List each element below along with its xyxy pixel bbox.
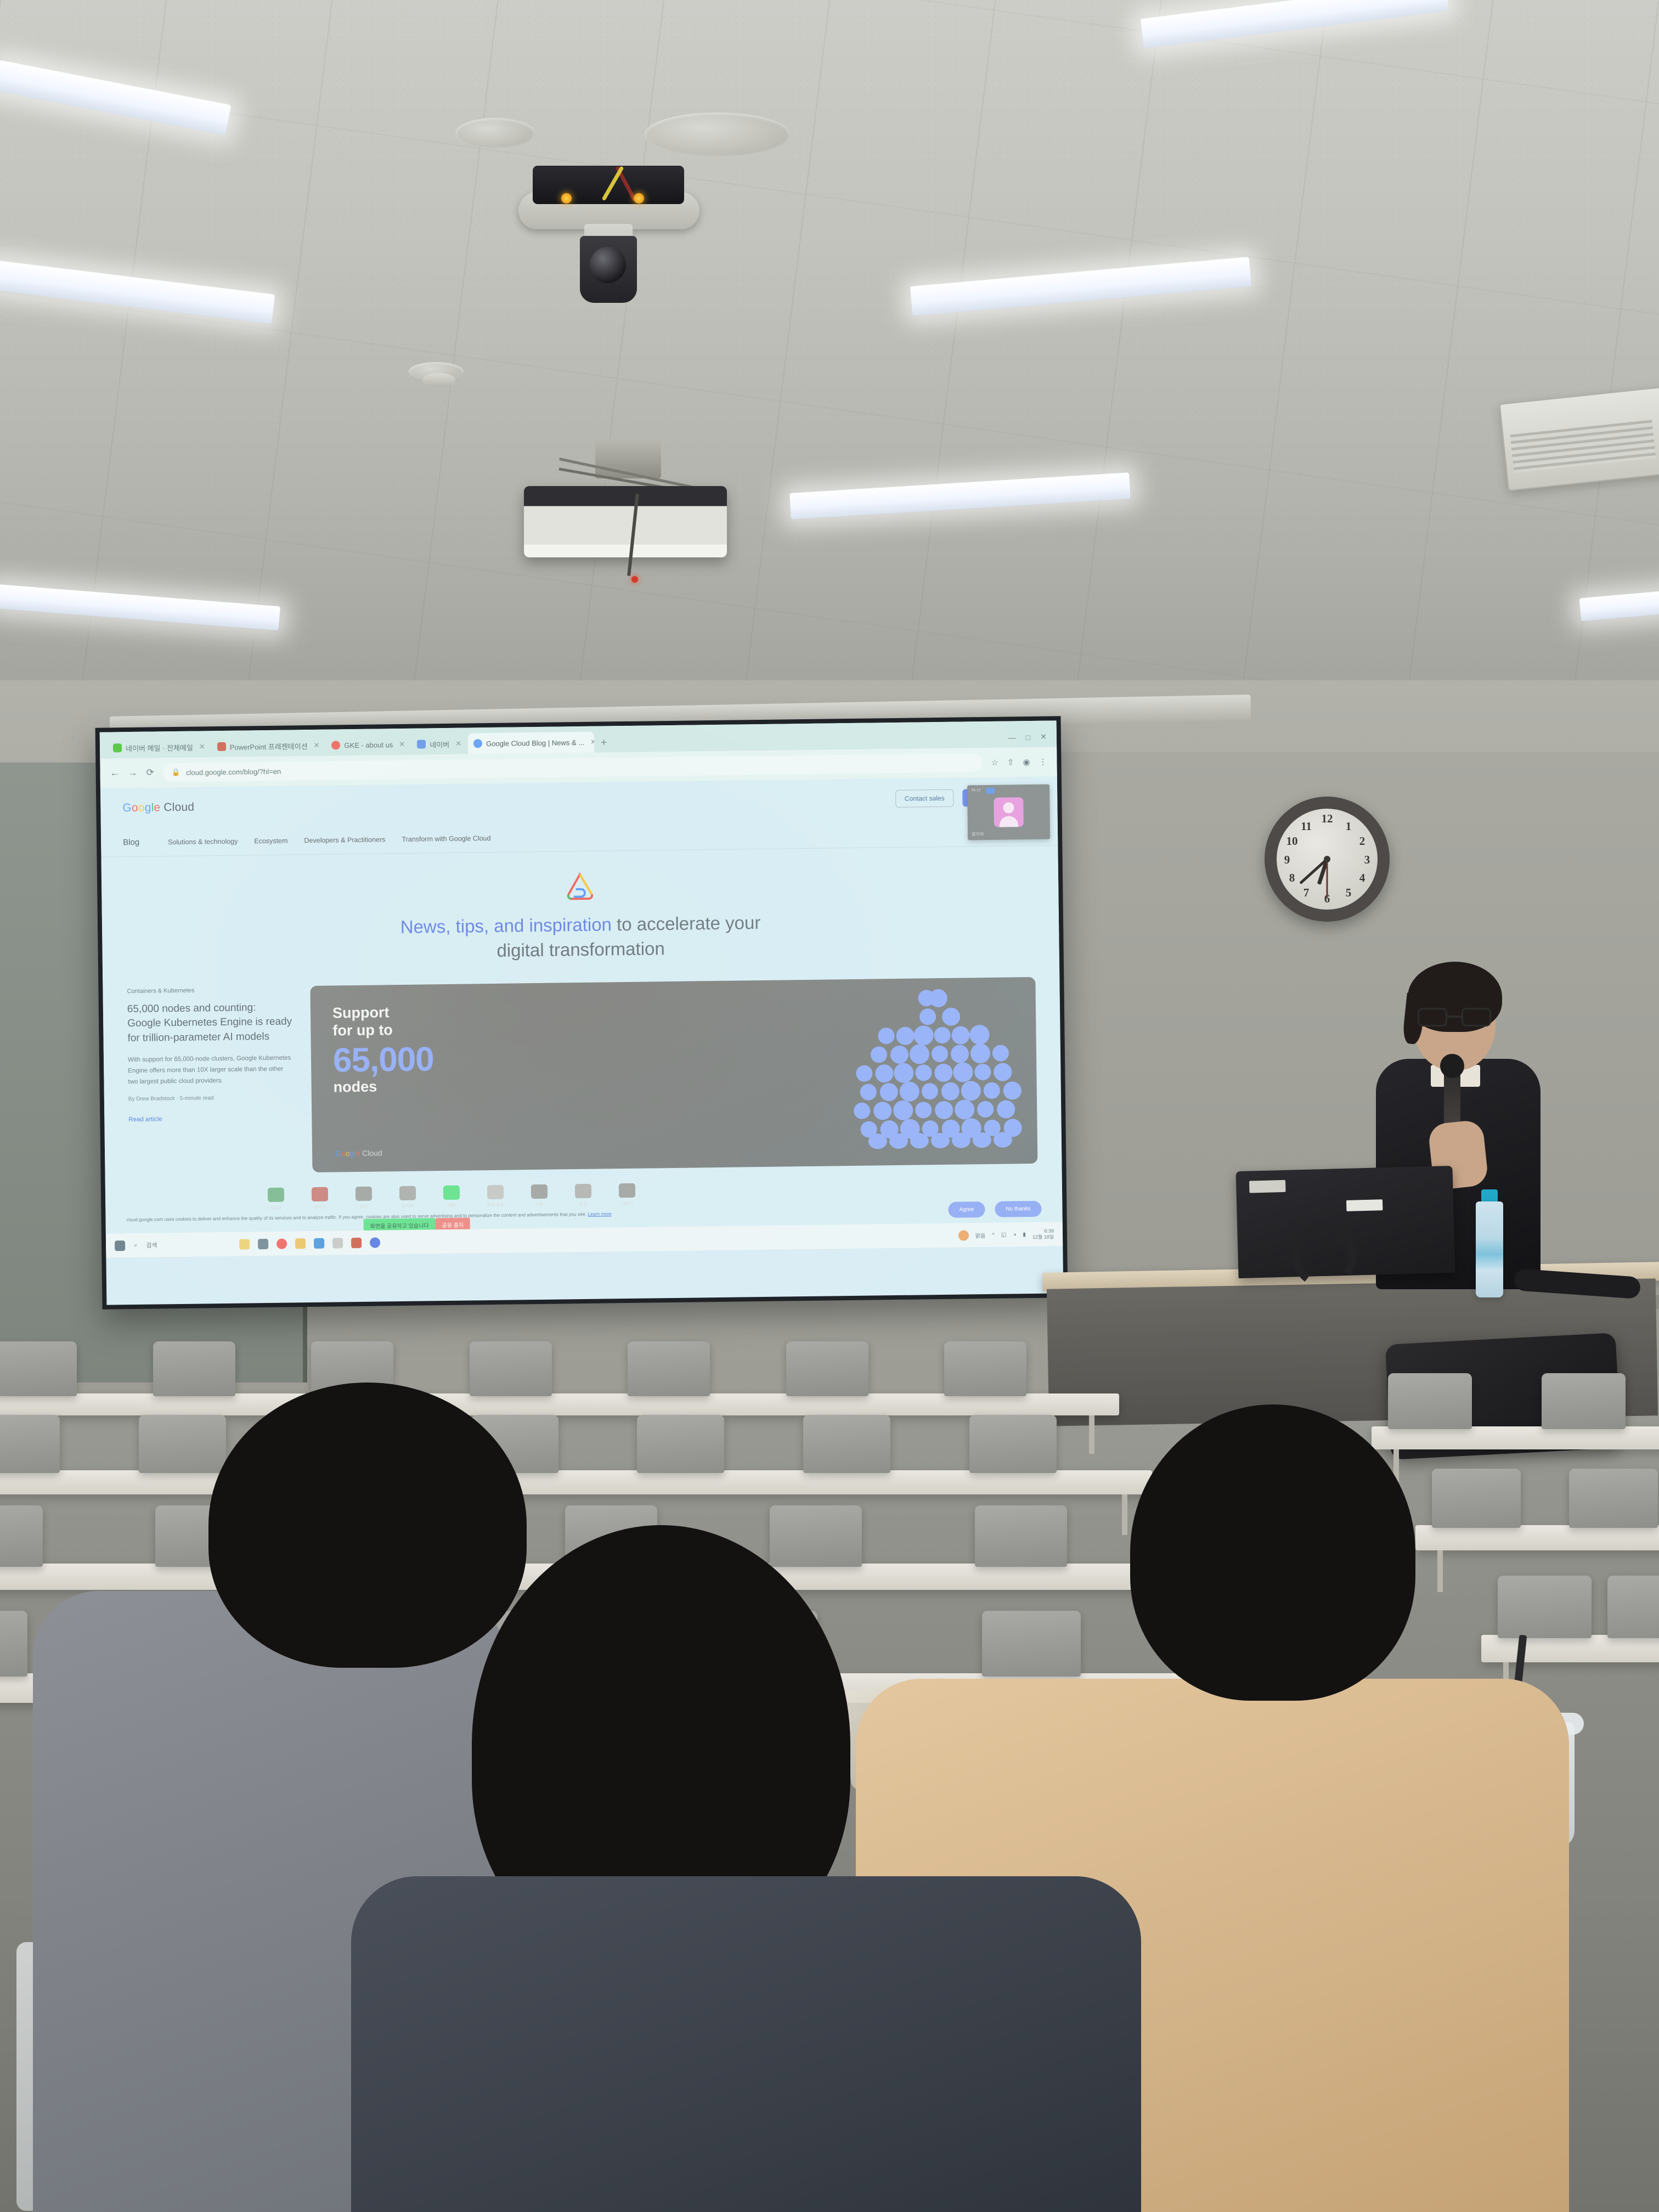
projection-screen: 네이버 메일 · 전체메일 ✕ PowerPoint 프레젠테이션 ✕ GKE … <box>95 716 1068 1309</box>
classroom-desk <box>0 1470 1152 1494</box>
copilot-icon[interactable] <box>239 1239 250 1249</box>
desk-leg <box>1089 1415 1094 1454</box>
glasses-icon <box>1418 1008 1491 1026</box>
clock-numeral: 9 <box>1280 853 1294 867</box>
clock-numeral: 4 <box>1355 871 1369 885</box>
toolbar-reactions[interactable]: 반응 <box>571 1184 596 1207</box>
task-view-icon[interactable] <box>258 1239 268 1249</box>
glasses-bridge <box>1447 1015 1462 1018</box>
clock-numeral: 2 <box>1355 834 1369 848</box>
chat-icon <box>443 1186 460 1200</box>
cluster-node <box>994 1063 1012 1081</box>
classroom-chair <box>969 1415 1057 1473</box>
cluster-node <box>910 1044 929 1064</box>
toolbar-participants[interactable]: 참가자 <box>395 1186 421 1210</box>
cluster-node <box>856 1065 872 1082</box>
clock-numeral: 5 <box>1341 886 1356 900</box>
lock-icon: 🔒 <box>172 768 180 777</box>
edge-icon[interactable] <box>314 1238 324 1248</box>
tab-favicon <box>113 743 122 752</box>
classroom-chair <box>1569 1469 1658 1528</box>
cluster-node <box>973 1132 991 1148</box>
clock-numeral: 12 <box>1320 812 1334 826</box>
camera-led-indicator <box>561 193 572 204</box>
glasses-lens-left <box>1418 1008 1447 1026</box>
clock-numeral: 10 <box>1285 834 1299 848</box>
tab-favicon <box>331 741 340 749</box>
toolbar-label: 오디오 <box>263 1205 289 1211</box>
tile-time-label: 34:12 <box>971 788 981 792</box>
browser-tab-active[interactable]: Google Cloud Blog | News & ... ✕ <box>468 732 594 754</box>
minimize-button[interactable]: — <box>1008 733 1016 742</box>
tab-favicon <box>473 739 482 748</box>
new-tab-button[interactable]: + <box>595 737 612 752</box>
tab-title: GKE - about us <box>344 741 393 749</box>
article-category[interactable]: Containers & Kubernetes <box>127 986 291 995</box>
taskbar-clock[interactable]: 6:38 12월 18일 <box>1032 1228 1054 1240</box>
clock-face: 12 1 2 3 4 5 6 7 8 9 10 11 <box>1277 809 1378 910</box>
toolbar-label: 비디오 <box>307 1204 332 1211</box>
classroom-chair <box>1498 1576 1592 1638</box>
toolbar-security[interactable]: 보안 <box>351 1187 377 1210</box>
ceiling <box>0 0 1659 713</box>
zoom-icon[interactable] <box>370 1237 380 1248</box>
classroom-chair <box>0 1505 43 1567</box>
tab-title: 네이버 메일 · 전체메일 <box>126 742 193 753</box>
toolbar-audio[interactable]: 오디오 <box>263 1188 289 1211</box>
read-article-link[interactable]: Read article <box>128 1115 293 1124</box>
clock-numeral: 3 <box>1360 853 1374 867</box>
cluster-node <box>955 1099 974 1119</box>
nav-item-solutions[interactable]: Solutions & technology <box>168 837 238 846</box>
cluster-node <box>854 1103 870 1119</box>
cluster-node <box>951 1045 969 1063</box>
reload-icon[interactable]: ⟳ <box>146 767 154 778</box>
bookmark-icon[interactable]: ☆ <box>991 758 998 768</box>
hero-headline: News, tips, and inspiration to accelerat… <box>102 907 1059 967</box>
google-cloud-logo-icon <box>564 871 596 904</box>
classroom-chair <box>1607 1576 1659 1638</box>
more-icon <box>619 1183 635 1198</box>
cluster-node <box>860 1084 877 1101</box>
camera-led-indicator <box>634 193 644 204</box>
hero-card: Support for up to 65,000 nodes Google Cl… <box>310 977 1037 1172</box>
cluster-node <box>934 1063 952 1081</box>
cookie-agree-button[interactable]: Agree <box>949 1201 985 1218</box>
tab-close-icon[interactable]: ✕ <box>313 741 319 750</box>
classroom-chair <box>803 1415 890 1473</box>
cluster-node <box>941 1007 960 1025</box>
clock-numeral: 7 <box>1299 886 1313 900</box>
classroom-chair <box>1542 1373 1626 1429</box>
tab-title: PowerPoint 프레젠테이션 <box>230 741 308 752</box>
toolbar-label: 채팅 <box>439 1203 464 1209</box>
cluster-node <box>896 1026 914 1045</box>
classroom-chair <box>470 1341 552 1396</box>
classroom-chair <box>637 1415 724 1473</box>
mic-icon <box>986 788 995 794</box>
toolbar-label: 더보기 <box>614 1200 640 1207</box>
toolbar-record[interactable]: 기록 <box>527 1184 552 1208</box>
classroom-chair <box>1388 1373 1472 1429</box>
cluster-node <box>890 1045 908 1063</box>
cluster-node <box>952 1026 970 1044</box>
meeting-self-video-tile[interactable]: 34:12 참가자 <box>967 785 1050 840</box>
toolbar-label: 화면 공유 <box>483 1202 508 1209</box>
headline-rest: to accelerate your <box>612 912 761 934</box>
classroom-chair <box>982 1611 1081 1677</box>
browser-tab[interactable]: PowerPoint 프레젠테이션 ✕ <box>212 735 325 758</box>
cluster-node <box>997 1100 1015 1118</box>
url-text: cloud.google.com/blog/?hl=en <box>186 767 281 776</box>
classroom-chair <box>628 1341 710 1396</box>
card-cloud-text: Cloud <box>362 1149 382 1158</box>
classroom-desk <box>1481 1635 1659 1662</box>
cluster-node <box>915 1064 932 1081</box>
card-google-cloud-wordmark: Google Cloud <box>335 1149 382 1158</box>
nav-item-transform[interactable]: Transform with Google Cloud <box>402 834 490 843</box>
headline-line2: digital transformation <box>496 938 665 961</box>
audience-member-head <box>1130 1404 1415 1701</box>
chrome-icon[interactable] <box>276 1238 287 1249</box>
cookie-decline-button[interactable]: No thanks <box>995 1201 1041 1217</box>
ceiling-projector <box>524 439 727 576</box>
toolbar-more[interactable]: 더보기 <box>614 1183 640 1207</box>
windows-start-icon[interactable] <box>115 1240 125 1251</box>
nav-item-developers[interactable]: Developers & Practitioners <box>304 836 385 844</box>
tab-close-icon[interactable]: ✕ <box>199 742 205 751</box>
projector-status-led <box>631 576 638 583</box>
classroom-chair <box>0 1611 27 1677</box>
cluster-node <box>879 1083 898 1101</box>
classroom-chair <box>139 1415 226 1473</box>
ceiling-ptz-camera <box>518 159 699 302</box>
toolbar-video[interactable]: 비디오 <box>307 1187 333 1211</box>
classroom-chair <box>0 1341 77 1396</box>
cluster-node <box>868 1133 887 1149</box>
cluster-node <box>910 1133 929 1148</box>
reactions-icon <box>575 1184 591 1198</box>
tab-close-icon[interactable]: ✕ <box>590 738 594 747</box>
cluster-node <box>878 1028 894 1044</box>
tab-title: 네이버 <box>430 738 449 749</box>
toolbar-chat[interactable]: 채팅 <box>439 1186 465 1209</box>
ceiling-speaker <box>455 118 535 148</box>
cluster-node <box>935 1101 953 1119</box>
window-controls: — □ ✕ <box>1008 732 1052 748</box>
battery-icon[interactable]: ▮ <box>1023 1232 1026 1238</box>
yellow-cable <box>601 166 624 201</box>
cluster-node <box>953 1062 973 1082</box>
cluster-node <box>875 1064 893 1082</box>
clock-numeral: 1 <box>1341 820 1356 833</box>
cluster-node <box>941 1082 960 1100</box>
cookie-message: cloud.google.com uses cookies to deliver… <box>126 1211 588 1222</box>
cluster-node <box>893 1101 913 1120</box>
cluster-node <box>919 1008 936 1025</box>
hero-section: News, tips, and inspiration to accelerat… <box>101 845 1059 973</box>
cluster-node <box>931 1133 950 1148</box>
smoke-detector <box>422 373 455 387</box>
cluster-node <box>1003 1081 1021 1099</box>
network-icon[interactable]: ◱ <box>1001 1232 1007 1238</box>
browser-tab[interactable]: GKE - about us ✕ <box>326 734 410 756</box>
classroom-chair <box>786 1341 868 1396</box>
audience-member-body <box>351 1876 1141 2212</box>
clock-date: 12월 18일 <box>1032 1234 1054 1241</box>
close-window-button[interactable]: ✕ <box>1040 732 1047 742</box>
cluster-node <box>983 1082 1000 1099</box>
tab-close-icon[interactable]: ✕ <box>455 740 461 748</box>
featured-article: Containers & Kubernetes 65,000 nodes and… <box>127 986 294 1175</box>
cluster-node <box>932 1046 948 1062</box>
cluster-node <box>969 1025 989 1045</box>
cluster-node <box>992 1045 1009 1062</box>
camera-icon <box>312 1187 328 1201</box>
tab-favicon <box>217 742 226 751</box>
contact-sales-button[interactable]: Contact sales <box>895 789 954 808</box>
classroom-chair <box>153 1341 235 1396</box>
tab-close-icon[interactable]: ✕ <box>399 740 405 749</box>
clock-numeral: 11 <box>1299 820 1313 833</box>
meeting-toolbar: 오디오 비디오 보안 참가자 <box>263 1183 640 1211</box>
search-icon[interactable]: ⌕ <box>134 1242 137 1249</box>
avatar <box>994 797 1024 827</box>
classroom-desk <box>0 1393 1119 1415</box>
cluster-node <box>913 1025 933 1045</box>
cluster-node <box>961 1081 981 1101</box>
classroom-chair <box>975 1505 1067 1567</box>
clock-time: 6:38 <box>1032 1228 1054 1234</box>
weather-label[interactable]: 맑음 <box>975 1231 986 1239</box>
article-body: With support for 65,000-node clusters, G… <box>128 1052 293 1087</box>
projector-body <box>524 486 727 557</box>
volume-icon[interactable]: ◑ <box>1013 1232 1016 1238</box>
cookie-text: cloud.google.com uses cookies to deliver… <box>126 1206 938 1223</box>
audience-member-head <box>208 1383 527 1668</box>
back-icon[interactable]: ← <box>110 768 119 778</box>
tab-favicon <box>417 740 426 748</box>
share-screen-icon <box>487 1185 504 1199</box>
camera-lens-icon <box>590 247 626 283</box>
address-bar[interactable]: 🔒 cloud.google.com/blog/?hl=en <box>163 753 983 782</box>
classroom-chair <box>770 1505 862 1567</box>
file-explorer-icon[interactable] <box>295 1238 306 1249</box>
content-columns: Containers & Kubernetes 65,000 nodes and… <box>103 961 1062 1175</box>
cluster-node <box>873 1102 891 1120</box>
glasses-lens-right <box>1462 1008 1491 1026</box>
toolbar-label: 참가자 <box>395 1203 420 1210</box>
nav-brand-blog[interactable]: Blog <box>123 838 139 847</box>
share-icon[interactable]: ⇧ <box>1007 757 1014 767</box>
air-conditioner-unit <box>1499 387 1659 491</box>
webpage-google-cloud-blog: GoogleCloud Contact sales Get started fo… <box>100 776 1063 1257</box>
lecture-hall-scene: 12 1 2 3 4 5 6 7 8 9 10 11 <box>0 0 1659 2212</box>
profile-icon[interactable]: ◉ <box>1023 757 1030 767</box>
search-label[interactable]: 검색 <box>146 1240 157 1249</box>
cluster-node <box>889 1133 908 1149</box>
toolbar-share-screen[interactable]: 화면 공유 <box>483 1185 509 1209</box>
participant-name: 참가자 <box>972 831 984 837</box>
classroom-desk <box>1372 1426 1659 1449</box>
browser-tab[interactable]: 네이버 ✕ <box>411 733 467 755</box>
shield-icon <box>356 1187 372 1201</box>
ceiling-speaker <box>645 112 790 156</box>
cluster-node <box>922 1083 938 1099</box>
tab-title: Google Cloud Blog | News & ... <box>486 738 584 747</box>
cluster-node <box>952 1132 970 1148</box>
toolbar-label: 기록 <box>527 1201 552 1208</box>
maximize-button[interactable]: □ <box>1026 732 1031 741</box>
taskbar-start-area: ⌕ 검색 <box>115 1240 157 1251</box>
clock-center-pin <box>1324 856 1330 862</box>
classroom-chair <box>1432 1469 1521 1528</box>
record-icon <box>531 1184 548 1199</box>
google-cloud-logo[interactable]: GoogleCloud <box>122 801 194 815</box>
water-bottle <box>1476 1201 1503 1297</box>
browser-tab[interactable]: 네이버 메일 · 전체메일 ✕ <box>108 736 211 758</box>
nav-item-ecosystem[interactable]: Ecosystem <box>254 837 287 845</box>
clock-second-hand <box>1327 859 1328 898</box>
camera-body <box>533 166 684 204</box>
toolbar-label: 보안 <box>351 1204 376 1210</box>
taskbar-tray: 맑음 ^ ◱ ◑ ▮ 6:38 12월 18일 <box>958 1228 1054 1242</box>
desk-leg <box>1437 1550 1443 1592</box>
cluster-node <box>970 1043 990 1063</box>
cluster-node <box>871 1046 887 1063</box>
cookie-learn-more-link[interactable]: Learn more <box>588 1211 612 1217</box>
projected-display: 네이버 메일 · 전체메일 ✕ PowerPoint 프레젠테이션 ✕ GKE … <box>100 720 1064 1305</box>
tray-chevron-icon[interactable]: ^ <box>992 1232 995 1238</box>
participants-icon <box>399 1186 416 1200</box>
classroom-chair <box>0 1415 60 1473</box>
app-icon[interactable] <box>332 1238 343 1248</box>
laptop-sticker <box>1249 1180 1286 1193</box>
cluster-node <box>915 1102 932 1118</box>
wall-clock: 12 1 2 3 4 5 6 7 8 9 10 11 <box>1265 797 1390 922</box>
article-title[interactable]: 65,000 nodes and counting: Google Kubern… <box>127 1001 292 1046</box>
mic-icon <box>268 1188 284 1202</box>
weather-icon[interactable] <box>958 1230 969 1240</box>
cluster-node <box>894 1063 913 1083</box>
classroom-desk <box>1415 1525 1659 1550</box>
forward-icon[interactable]: → <box>128 768 137 778</box>
powerpoint-icon[interactable] <box>351 1237 362 1248</box>
cluster-node <box>974 1064 991 1080</box>
taskbar-app-icons <box>239 1237 380 1249</box>
menu-icon[interactable]: ⋮ <box>1039 757 1047 767</box>
cluster-node <box>899 1082 919 1102</box>
article-byline: By Drew Bradstock · 5-minute read <box>128 1094 293 1103</box>
cluster-node <box>994 1132 1012 1148</box>
classroom-chair <box>944 1341 1026 1396</box>
headline-accent: News, tips, and inspiration <box>400 914 612 937</box>
toolbar-label: 반응 <box>571 1201 596 1207</box>
desk-leg <box>1122 1494 1127 1535</box>
cluster-node <box>934 1027 950 1043</box>
clock-numeral: 8 <box>1285 871 1299 885</box>
laptop-sticker <box>1346 1199 1383 1211</box>
node-cluster-graphic <box>844 985 1028 1152</box>
cluster-node <box>929 989 947 1007</box>
browser-toolbar-actions: ☆ ⇧ ◉ ⋮ <box>991 757 1047 768</box>
cloud-wordmark: Cloud <box>163 801 194 814</box>
cluster-node <box>977 1101 994 1118</box>
